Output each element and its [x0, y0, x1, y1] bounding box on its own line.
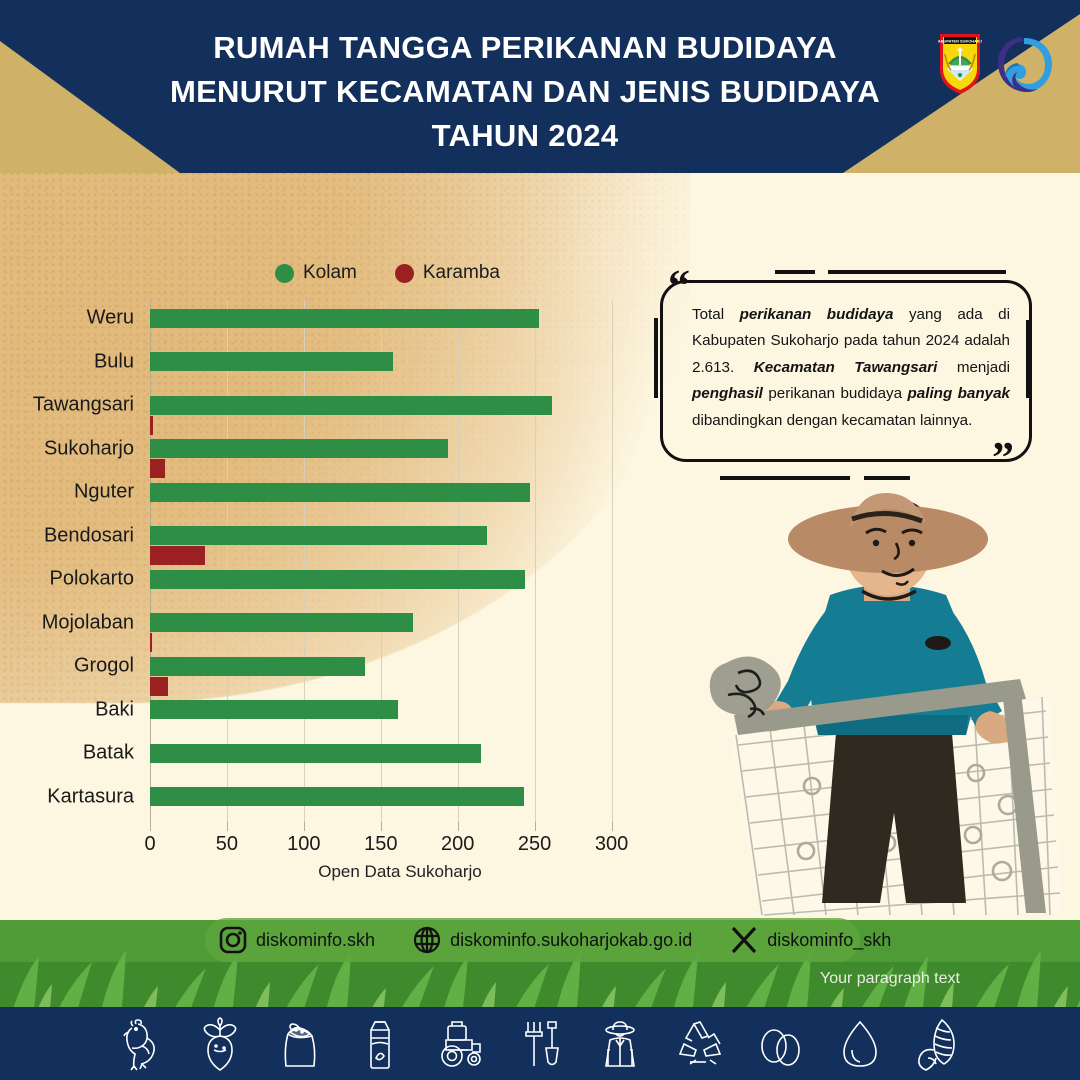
chart-bars	[150, 300, 650, 822]
bar-chart: Kolam Karamba WeruBuluTawangsariSukoharj…	[0, 173, 700, 893]
infographic-body: Kolam Karamba WeruBuluTawangsariSukoharj…	[0, 173, 1080, 1080]
social-x[interactable]: diskominfo_skh	[730, 926, 891, 954]
y-axis-label-batak: Batak	[83, 742, 134, 765]
title-line-1: RUMAH TANGGA PERIKANAN BUDIDAYA	[130, 26, 920, 70]
x-tick-label-0: 0	[144, 833, 155, 856]
bar-kolam-baki	[150, 700, 398, 719]
x-tick-mark-0	[150, 822, 151, 831]
paragraph-placeholder-text: Your paragraph text	[820, 970, 960, 988]
x-tick-label-200: 200	[441, 833, 474, 856]
x-twitter-icon[interactable]	[730, 926, 758, 954]
quote-close-mark: ”	[992, 436, 1014, 480]
legend-swatch-kolam	[275, 264, 294, 283]
bar-karamba-bendosari	[150, 546, 205, 565]
bar-kolam-kartasura	[150, 787, 524, 806]
bar-kolam-batak	[150, 744, 481, 763]
bar-kolam-mojolaban	[150, 613, 413, 632]
footer-icon-strip	[0, 1007, 1080, 1080]
bar-kolam-bulu	[150, 352, 393, 371]
quote-dash-left	[654, 318, 658, 398]
title-line-2: MENURUT KECAMATAN DAN JENIS BUDIDAYA	[130, 70, 920, 114]
y-axis-label-baki: Baki	[95, 698, 134, 721]
legend-label-karamba: Karamba	[423, 262, 500, 284]
bar-karamba-tawangsari	[150, 416, 153, 435]
y-axis-label-kartasura: Kartasura	[47, 785, 134, 808]
quote-dash-top-2	[828, 270, 1006, 274]
y-axis-label-weru: Weru	[87, 307, 134, 330]
quote-card: “ ” Total perikanan budidaya yang ada di…	[660, 258, 1050, 493]
social-website-handle: diskominfo.sukoharjokab.go.id	[450, 930, 692, 951]
page-header: RUMAH TANGGA PERIKANAN BUDIDAYA MENURUT …	[0, 0, 1080, 173]
chicken-icon	[112, 1016, 168, 1072]
x-tick-mark-100	[304, 822, 305, 831]
y-axis-label-grogol: Grogol	[74, 655, 134, 678]
quote-open-mark: “	[668, 264, 690, 308]
x-tick-mark-50	[227, 822, 228, 831]
title-line-3: TAHUN 2024	[130, 114, 920, 158]
globe-icon[interactable]	[413, 926, 441, 954]
farmer-icon	[592, 1016, 648, 1072]
corn-icon	[912, 1016, 968, 1072]
social-x-handle: diskominfo_skh	[767, 930, 891, 951]
x-tick-label-50: 50	[216, 833, 238, 856]
legend-item-karamba: Karamba	[395, 262, 500, 284]
x-tick-mark-250	[535, 822, 536, 831]
y-axis-label-bendosari: Bendosari	[44, 524, 134, 547]
x-tick-mark-150	[381, 822, 382, 831]
quote-dash-bottom-1	[720, 476, 850, 480]
bar-kolam-weru	[150, 309, 539, 328]
bar-kolam-grogol	[150, 657, 365, 676]
fisherman-illustration	[690, 483, 1080, 918]
water-drop-icon	[832, 1016, 888, 1072]
chart-y-axis-labels: WeruBuluTawangsariSukoharjoNguterBendosa…	[0, 300, 144, 822]
bar-kolam-nguter	[150, 483, 530, 502]
instagram-icon[interactable]	[219, 926, 247, 954]
social-website[interactable]: diskominfo.sukoharjokab.go.id	[413, 926, 692, 954]
x-tick-mark-300	[612, 822, 613, 831]
y-axis-label-sukoharjo: Sukoharjo	[44, 437, 134, 460]
bar-karamba-mojolaban	[150, 633, 152, 652]
quote-dash-right	[1026, 320, 1030, 398]
social-instagram-handle: diskominfo.skh	[256, 930, 375, 951]
tractor-icon	[432, 1016, 488, 1072]
x-tick-label-300: 300	[595, 833, 628, 856]
y-axis-label-tawangsari: Tawangsari	[33, 394, 134, 417]
bar-kolam-tawangsari	[150, 396, 552, 415]
y-axis-label-bulu: Bulu	[94, 350, 134, 373]
chart-x-axis: 050100150200250300	[150, 822, 650, 862]
chart-legend: Kolam Karamba	[275, 260, 500, 286]
bar-kolam-sukoharjo	[150, 439, 448, 458]
pitchfork-shovel-icon	[512, 1016, 568, 1072]
regency-crest-logo: KABUPATEN SUKOHARJO	[938, 32, 982, 96]
social-instagram[interactable]: diskominfo.skh	[219, 926, 375, 954]
x-tick-label-150: 150	[364, 833, 397, 856]
quote-dash-top-1	[775, 270, 815, 274]
eggs-icon	[752, 1016, 808, 1072]
social-media-bar: diskominfo.skh diskominfo.sukoharjokab.g…	[205, 918, 860, 962]
legend-label-kolam: Kolam	[303, 262, 357, 284]
page-title: RUMAH TANGGA PERIKANAN BUDIDAYA MENURUT …	[130, 26, 920, 158]
x-tick-label-250: 250	[518, 833, 551, 856]
legend-item-kolam: Kolam	[275, 262, 357, 284]
svg-text:KABUPATEN SUKOHARJO: KABUPATEN SUKOHARJO	[938, 39, 982, 44]
legend-swatch-karamba	[395, 264, 414, 283]
milk-carton-icon	[352, 1016, 408, 1072]
quote-body-text: Total perikanan budidaya yang ada di Kab…	[692, 302, 1010, 434]
grain-sack-icon	[272, 1016, 328, 1072]
chart-plot-area	[150, 300, 650, 822]
quote-dash-bottom-2	[864, 476, 910, 480]
bar-kolam-polokarto	[150, 570, 525, 589]
bar-kolam-bendosari	[150, 526, 487, 545]
x-tick-mark-200	[458, 822, 459, 831]
radish-icon	[192, 1016, 248, 1072]
recycle-icon	[672, 1016, 728, 1072]
y-axis-label-polokarto: Polokarto	[50, 568, 135, 591]
y-axis-label-nguter: Nguter	[74, 481, 134, 504]
kominfo-wave-logo	[996, 36, 1052, 94]
x-tick-label-100: 100	[287, 833, 320, 856]
bar-karamba-grogol	[150, 677, 168, 696]
bar-karamba-sukoharjo	[150, 459, 165, 478]
y-axis-label-mojolaban: Mojolaban	[42, 611, 134, 634]
